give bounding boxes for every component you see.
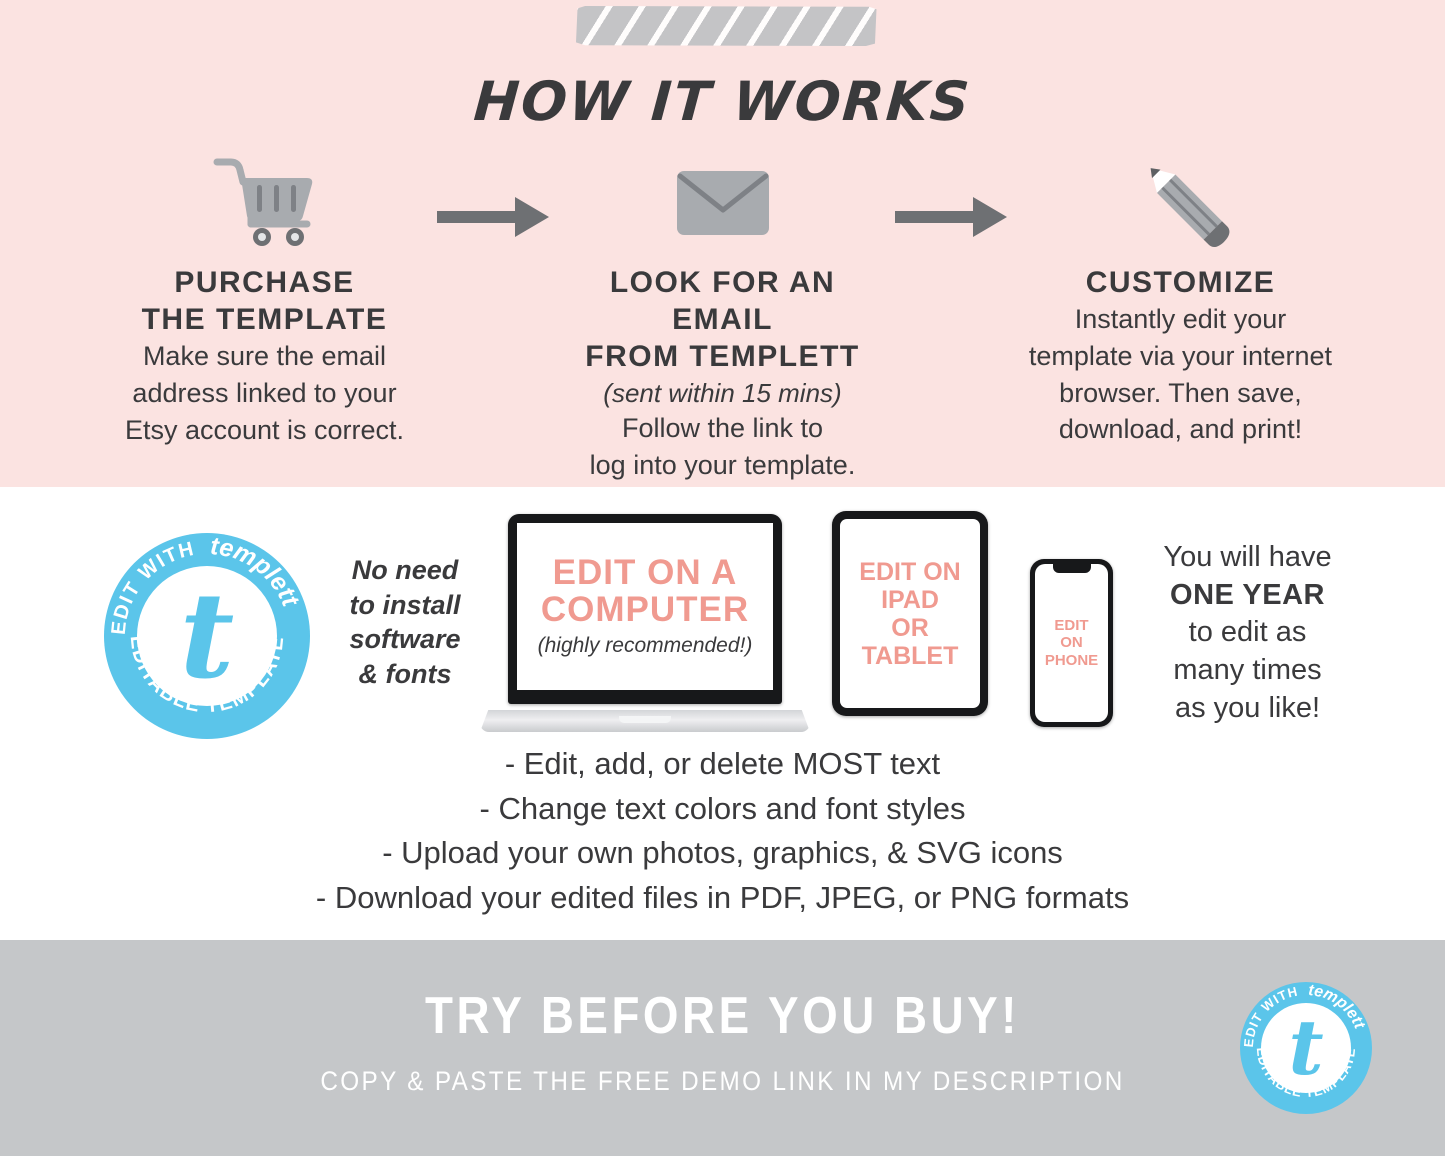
shopping-cart-icon: [100, 150, 430, 250]
svg-text:templett: templett: [1308, 982, 1368, 1032]
arrow-right-icon: [888, 150, 1016, 242]
phone-device: EDIT ON PHONE: [1030, 559, 1113, 727]
no-need-text: No need to install software & fonts: [330, 553, 480, 691]
page-title: HOW IT WORKS: [0, 70, 1445, 133]
step-body: Follow the link to log into your templat…: [558, 410, 888, 483]
list-item: - Upload your own photos, graphics, & SV…: [0, 831, 1445, 876]
laptop-headline: EDIT ON A COMPUTER: [541, 555, 749, 629]
list-item: - Download your edited files in PDF, JPE…: [0, 876, 1445, 921]
svg-text:EDITABLE TEMPLATE: EDITABLE TEMPLATE: [126, 635, 289, 718]
footer-subtitle: COPY & PASTE THE FREE DEMO LINK IN MY DE…: [72, 1066, 1373, 1097]
laptop-lid: EDIT ON A COMPUTER (highly recommended!): [508, 514, 782, 704]
how-it-works-section: HOW IT WORKS: [0, 0, 1445, 487]
laptop-device: EDIT ON A COMPUTER (highly recommended!): [480, 514, 810, 732]
step-title: CUSTOMIZE: [1016, 264, 1346, 301]
laptop-screen: EDIT ON A COMPUTER (highly recommended!): [517, 523, 773, 690]
tablet-headline: EDIT ON IPAD OR TABLET: [859, 558, 960, 670]
templett-badge-footer: t EDIT WITH templett EDITABLE TEMPLATE: [1240, 982, 1372, 1114]
tablet-device: EDIT ON IPAD OR TABLET: [832, 511, 988, 716]
step-purchase: PURCHASE THE TEMPLATE Make sure the emai…: [100, 150, 430, 449]
templett-badge: t EDIT WITH templett EDITABLE TEMPLATE: [104, 533, 310, 739]
washi-tape: [576, 6, 878, 46]
step-subtitle: (sent within 15 mins): [558, 376, 888, 410]
step-body: Make sure the email address linked to yo…: [100, 338, 430, 448]
list-item: - Edit, add, or delete MOST text: [0, 742, 1445, 787]
pencil-icon: [1016, 150, 1346, 250]
badge-curved-text: EDIT WITH templett EDITABLE TEMPLATE: [1240, 982, 1372, 1114]
laptop-subtext: (highly recommended!): [538, 634, 753, 658]
one-year-text: You will have ONE YEAR to edit as many t…: [1120, 539, 1375, 727]
envelope-icon: [558, 150, 888, 250]
try-before-you-buy-section: TRY BEFORE YOU BUY! COPY & PASTE THE FRE…: [0, 940, 1445, 1156]
step-customize: CUSTOMIZE Instantly edit your template v…: [1016, 150, 1346, 448]
badge-curved-text: EDIT WITH templett EDITABLE TEMPLATE: [104, 533, 310, 739]
arrow-right-icon: [430, 150, 558, 242]
devices-and-features-section: t EDIT WITH templett EDITABLE TEMPLATE: [0, 487, 1445, 940]
svg-text:templett: templett: [209, 533, 305, 612]
one-year-highlight: ONE YEAR: [1170, 579, 1325, 611]
phone-headline: EDIT ON PHONE: [1045, 617, 1098, 669]
svg-text:EDITABLE TEMPLATE: EDITABLE TEMPLATE: [1254, 1047, 1358, 1100]
footer-title: TRY BEFORE YOU BUY!: [87, 986, 1359, 1046]
tablet-screen: EDIT ON IPAD OR TABLET: [840, 519, 980, 708]
phone-screen: EDIT ON PHONE: [1035, 564, 1108, 722]
steps-row: PURCHASE THE TEMPLATE Make sure the emai…: [0, 150, 1445, 483]
step-look-for-email: LOOK FOR AN EMAIL FROM TEMPLETT (sent wi…: [558, 150, 888, 483]
infographic-page: HOW IT WORKS: [0, 0, 1445, 1156]
step-title: PURCHASE THE TEMPLATE: [100, 264, 430, 338]
svg-text:EDIT WITH: EDIT WITH: [108, 538, 197, 636]
devices-row: t EDIT WITH templett EDITABLE TEMPLATE: [0, 511, 1445, 736]
step-title: LOOK FOR AN EMAIL FROM TEMPLETT: [558, 264, 888, 376]
svg-text:EDIT WITH: EDIT WITH: [1241, 984, 1300, 1048]
step-body: Instantly edit your template via your in…: [1016, 301, 1346, 448]
feature-list: - Edit, add, or delete MOST text - Chang…: [0, 742, 1445, 921]
list-item: - Change text colors and font styles: [0, 787, 1445, 832]
phone-notch: [1053, 564, 1091, 573]
laptop-trackpad-notch: [619, 716, 671, 723]
